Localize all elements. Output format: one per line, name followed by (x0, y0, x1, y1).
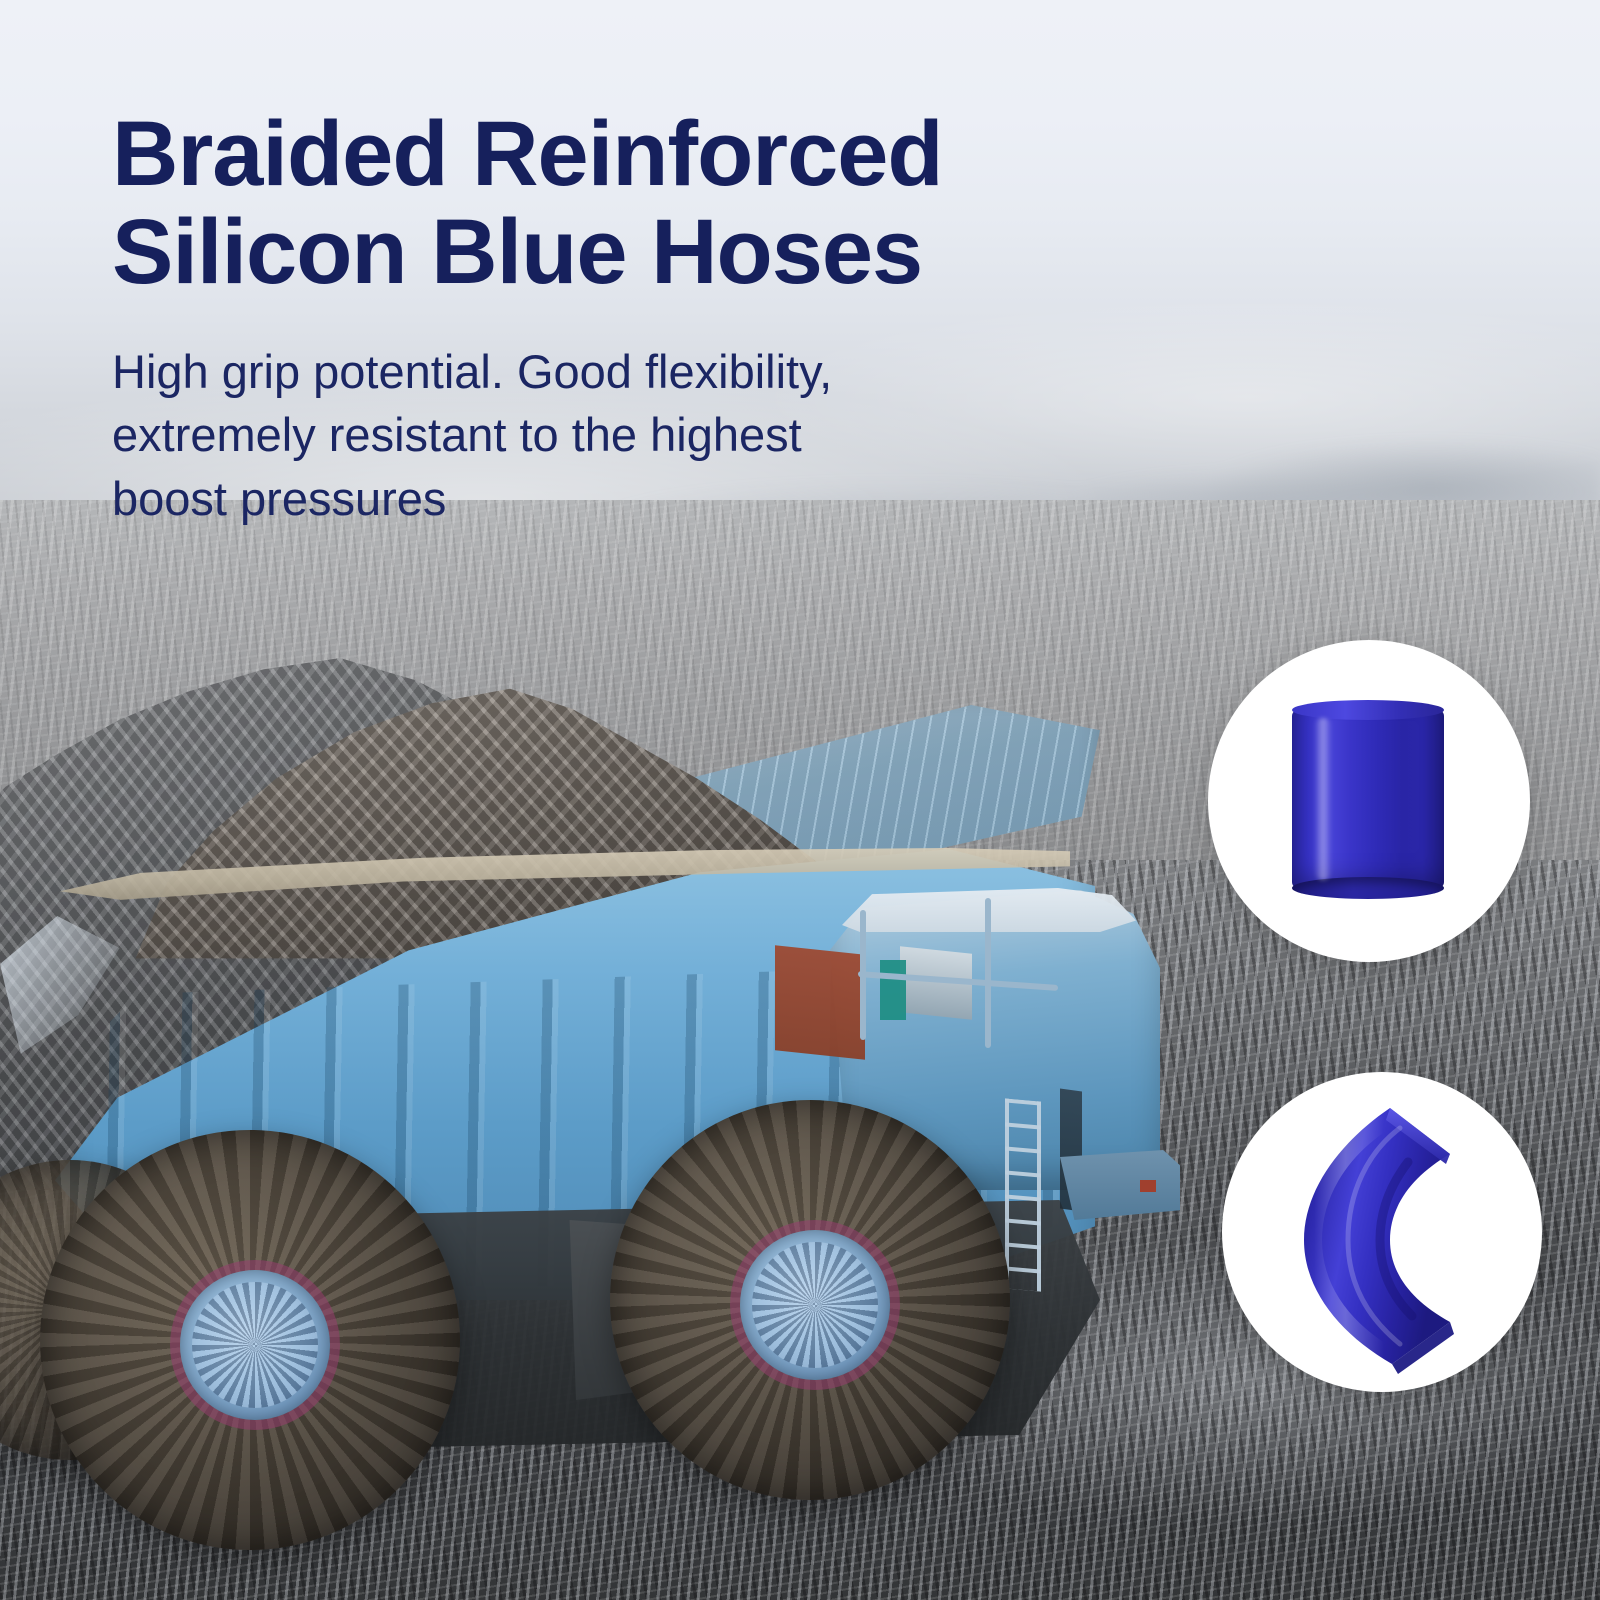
coupler-gloss-highlight (1314, 718, 1332, 880)
truck-wheel-hub-front (740, 1230, 890, 1380)
mining-dump-truck (0, 660, 1180, 1600)
subtitle-line-1: High grip potential. Good flexibility, (112, 340, 972, 403)
truck-marker-light (1140, 1180, 1156, 1192)
truck-rust-panel (775, 945, 865, 1059)
product-circle-straight-coupler[interactable] (1208, 640, 1530, 962)
subtitle-line-2: extremely resistant to the highest (112, 403, 972, 466)
truck-handrail-post-2 (985, 898, 991, 1048)
truck-front-bumper (1060, 1150, 1180, 1220)
truck-access-ladder (1005, 1098, 1041, 1291)
headline-line-1: Braided Reinforced (112, 103, 943, 205)
elbow-90-hose-icon (1222, 1072, 1542, 1392)
truck-wheel-hub-rear (180, 1270, 330, 1420)
product-circle-elbow-hose[interactable] (1222, 1072, 1542, 1392)
headline-line-2: Silicon Blue Hoses (112, 204, 1192, 302)
truck-teal-accent (880, 960, 906, 1020)
promo-banner: Braided Reinforced Silicon Blue Hoses Hi… (0, 0, 1600, 1600)
page-title: Braided Reinforced Silicon Blue Hoses (112, 106, 1192, 301)
page-subtitle: High grip potential. Good flexibility, e… (112, 340, 972, 530)
subtitle-line-3: boost pressures (112, 467, 972, 530)
